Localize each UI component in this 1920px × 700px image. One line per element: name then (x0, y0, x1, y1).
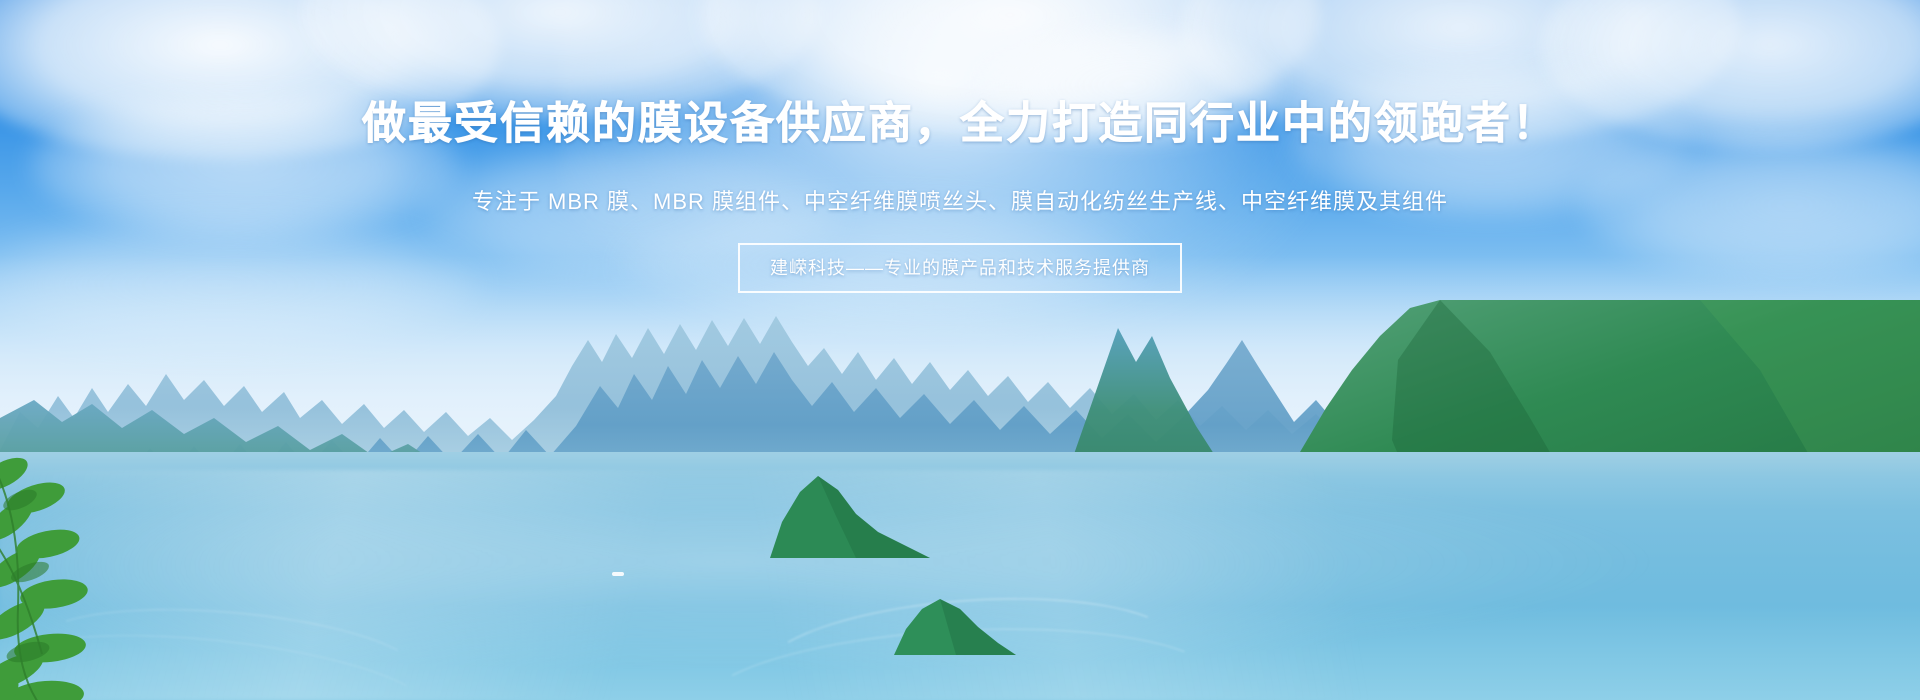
island-left (760, 470, 940, 560)
island-center (890, 595, 1020, 657)
hero-banner: 做最受信赖的膜设备供应商，全力打造同行业中的领跑者！ 专注于 MBR 膜、MBR… (0, 0, 1920, 700)
boat-icon (612, 572, 624, 576)
foreground-foliage (0, 440, 220, 700)
